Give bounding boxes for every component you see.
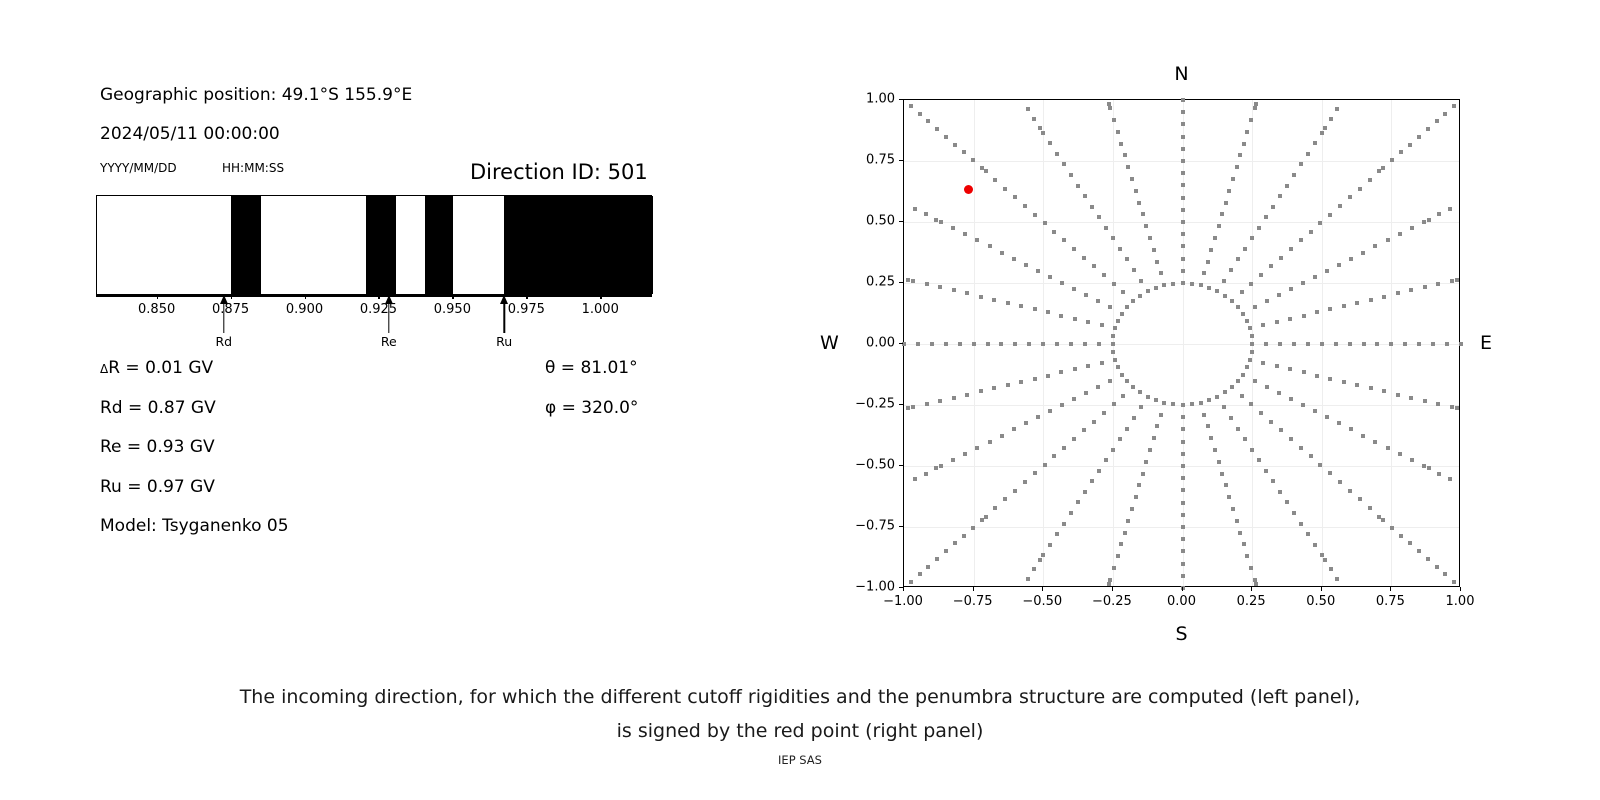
scatter-point: [1452, 104, 1456, 108]
scatter-point: [1253, 106, 1257, 110]
scatter-point: [1227, 189, 1231, 193]
y-axis-tick-label: 0.00: [841, 336, 895, 351]
scatter-point: [1121, 394, 1125, 398]
scatter-point: [1033, 471, 1037, 475]
scatter-point: [1368, 178, 1372, 182]
scatter-point: [1125, 427, 1129, 431]
scatter-point: [1171, 402, 1175, 406]
scatter-point: [1342, 304, 1346, 308]
scatter-point: [1417, 549, 1421, 553]
scatter-point: [909, 104, 913, 108]
scatter-point: [1181, 574, 1185, 578]
scatter-point: [1116, 554, 1120, 558]
scatter-point: [1097, 215, 1101, 219]
stat-left-2: Re = 0.93 GV: [100, 437, 215, 457]
scatter-point: [1100, 361, 1104, 365]
scatter-point: [1215, 289, 1219, 293]
scatter-point: [1000, 434, 1004, 438]
y-axis-tick-label: 1.00: [841, 92, 895, 107]
scatter-point: [1455, 406, 1459, 410]
scatter-point: [1013, 195, 1017, 199]
scatter-point: [1213, 236, 1217, 240]
stat-left-4: Model: Tsyganenko 05: [100, 516, 289, 536]
scatter-point: [1209, 436, 1213, 440]
scatter-point: [1155, 424, 1159, 428]
scatter-point: [1038, 558, 1042, 562]
scatter-point: [963, 452, 967, 456]
scatter-point: [1220, 472, 1224, 476]
scatter-point: [1120, 312, 1124, 316]
scatter-point: [953, 143, 957, 147]
scatter-point: [1181, 440, 1185, 444]
scatter-point: [1248, 326, 1252, 330]
scatter-point: [1126, 165, 1130, 169]
scatter-point: [1289, 397, 1293, 401]
y-axis-tick-label: 0.50: [841, 214, 895, 229]
scatter-point: [1207, 286, 1211, 290]
scatter-point: [1328, 307, 1332, 311]
scatter-point: [1231, 507, 1235, 511]
scatter-point: [952, 288, 956, 292]
x-axis-tick: [1182, 587, 1183, 591]
scatter-point: [1399, 534, 1403, 538]
rigidity-marker-re: Re: [369, 295, 409, 349]
scatter-point: [1112, 282, 1116, 286]
scatter-point: [979, 295, 983, 299]
scatter-point: [1082, 256, 1086, 260]
penumbra-axis-tick: [526, 295, 527, 299]
scatter-point: [1265, 385, 1269, 389]
direction-id-label: Direction ID: 501: [470, 160, 648, 184]
scatter-point: [1100, 323, 1104, 327]
scatter-point: [1215, 395, 1219, 399]
scatter-point: [1048, 409, 1052, 413]
scatter-point: [1131, 299, 1135, 303]
scatter-point: [1141, 472, 1145, 476]
scatter-point: [1329, 567, 1333, 571]
scatter-point: [1096, 385, 1100, 389]
scatter-point: [1328, 213, 1332, 217]
scatter-point: [1052, 454, 1056, 458]
scatter-point: [1048, 543, 1052, 547]
scatter-point: [1159, 271, 1163, 275]
scatter-point: [1249, 282, 1253, 286]
scatter-point: [1023, 480, 1027, 484]
scatter-point: [924, 212, 928, 216]
scatter-point: [1245, 319, 1249, 323]
scatter-point: [1422, 220, 1426, 224]
y-axis-tick: [899, 160, 903, 161]
scatter-point: [1306, 532, 1310, 536]
scatter-point: [1377, 169, 1381, 173]
scatter-point: [1026, 577, 1030, 581]
scatter-point: [906, 278, 910, 282]
scatter-point: [1222, 279, 1226, 283]
scatter-point: [913, 207, 917, 211]
scatter-point: [1006, 383, 1010, 387]
scatter-point: [1144, 460, 1148, 464]
scatter-point: [1396, 393, 1400, 397]
scatter-point: [1320, 131, 1324, 135]
scatter-point: [1318, 463, 1322, 467]
scatter-point: [1390, 158, 1394, 162]
scatter-point: [1250, 448, 1254, 452]
scatter-point: [980, 166, 984, 170]
scatter-point: [984, 515, 988, 519]
scatter-point: [1253, 578, 1257, 582]
scatter-point: [1206, 260, 1210, 264]
scatter-point: [1154, 398, 1158, 402]
scatter-point: [1236, 257, 1240, 261]
scatter-point: [1027, 342, 1031, 346]
scatter-point: [1152, 248, 1156, 252]
scatter-point: [1229, 268, 1233, 272]
scatter-point: [1254, 102, 1258, 106]
scatter-point: [909, 580, 913, 584]
scatter-point: [1119, 542, 1123, 546]
scatter-point: [1134, 495, 1138, 499]
scatter-point: [1236, 305, 1240, 309]
scatter-point: [1125, 305, 1129, 309]
x-axis-tick: [1390, 587, 1391, 591]
penumbra-bar-frame: [96, 195, 652, 295]
scatter-point: [1097, 342, 1101, 346]
scatter-point: [1123, 531, 1127, 535]
stat-right-1: φ = 320.0°: [545, 398, 638, 418]
scatter-point: [1349, 427, 1353, 431]
scatter-point: [913, 477, 917, 481]
scatter-point: [1436, 402, 1440, 406]
scatter-point: [1190, 402, 1194, 406]
stat-left-1: Rd = 0.87 GV: [100, 398, 216, 418]
scatter-point: [1111, 236, 1115, 240]
scatter-point: [1431, 342, 1435, 346]
scatter-point: [1459, 342, 1463, 346]
scatter-point: [1181, 501, 1185, 505]
scatter-point: [1108, 379, 1112, 383]
x-axis-tick-label: 1.00: [1446, 594, 1475, 609]
scatter-point: [1450, 279, 1454, 283]
scatter-point: [935, 557, 939, 561]
scatter-point: [1315, 310, 1319, 314]
penumbra-axis-tick: [600, 295, 601, 299]
scatter-point: [934, 218, 938, 222]
marker-label: Re: [369, 334, 409, 349]
scatter-point: [1410, 226, 1414, 230]
scatter-point: [1123, 153, 1127, 157]
scatter-point: [1206, 424, 1210, 428]
scatter-point: [1259, 411, 1263, 415]
marker-label: Ru: [484, 334, 524, 349]
scatter-point: [1386, 446, 1390, 450]
scatter-point: [1288, 367, 1292, 371]
scatter-point: [1318, 221, 1322, 225]
penumbra-axis-tick: [452, 295, 453, 299]
scatter-point: [1427, 218, 1431, 222]
scatter-point: [1024, 421, 1028, 425]
scatter-point: [1408, 143, 1412, 147]
scatter-point: [1138, 390, 1142, 394]
scatter-point: [1368, 506, 1372, 510]
scatter-point: [1116, 130, 1120, 134]
scatter-point: [925, 282, 929, 286]
scatter-point: [1062, 446, 1066, 450]
penumbra-bar-chart: [96, 195, 652, 295]
scatter-point: [1181, 452, 1185, 456]
highlighted-direction-point: [964, 185, 973, 194]
scatter-point: [1181, 525, 1185, 529]
x-axis-tick-label: −1.00: [883, 594, 923, 609]
scatter-point: [962, 150, 966, 154]
scatter-point: [1238, 153, 1242, 157]
scatter-point: [1409, 288, 1413, 292]
scatter-point: [952, 396, 956, 400]
scatter-point: [1259, 273, 1263, 277]
scatter-point: [930, 342, 934, 346]
x-axis-tick-label: 0.25: [1237, 594, 1266, 609]
scatter-point: [1435, 565, 1439, 569]
scatter-point: [980, 518, 984, 522]
scatter-point: [965, 393, 969, 397]
scatter-point: [1181, 159, 1185, 163]
scatter-point: [1269, 420, 1273, 424]
scatter-point: [1181, 464, 1185, 468]
scatter-point: [1313, 141, 1317, 145]
scatter-point: [1223, 390, 1227, 394]
scatter-point: [1132, 416, 1136, 420]
left-panel: Geographic position: 49.1°S 155.9°E 2024…: [0, 0, 760, 660]
scatter-point: [1102, 273, 1106, 277]
scatter-point: [1278, 194, 1282, 198]
scatter-point: [1320, 342, 1324, 346]
scatter-point: [1279, 428, 1283, 432]
scatter-point: [1086, 320, 1090, 324]
scatter-point: [1043, 221, 1047, 225]
scatter-point: [1236, 427, 1240, 431]
scatter-point: [1348, 195, 1352, 199]
y-axis-tick: [899, 465, 903, 466]
scatter-point: [1199, 401, 1203, 405]
scatter-point: [1162, 283, 1166, 287]
scatter-point: [1118, 437, 1122, 441]
scatter-point: [1139, 279, 1143, 283]
scatter-point: [1033, 213, 1037, 217]
scatter-point: [1369, 386, 1373, 390]
scatter-point: [1445, 342, 1449, 346]
scatter-point: [1437, 212, 1441, 216]
scatter-point: [1154, 286, 1158, 290]
scatter-point: [1137, 483, 1141, 487]
scatter-point: [1146, 395, 1150, 399]
scatter-point: [1277, 293, 1281, 297]
scatter-point: [1230, 385, 1234, 389]
scatter-point: [1086, 364, 1090, 368]
scatter-point: [992, 298, 996, 302]
scatter-point: [1309, 230, 1313, 234]
scatter-point: [1072, 437, 1076, 441]
scatter-point: [1230, 299, 1234, 303]
scatter-point: [1181, 244, 1185, 248]
scatter-point: [1113, 358, 1117, 362]
y-axis-tick-label: −1.00: [841, 580, 895, 595]
scatter-point: [1426, 557, 1430, 561]
scatter-point: [1181, 269, 1185, 273]
scatter-point: [1236, 379, 1240, 383]
scatter-point: [1422, 464, 1426, 468]
scatter-point: [1190, 282, 1194, 286]
scatter-point: [1362, 342, 1366, 346]
scatter-point: [1111, 342, 1115, 346]
scatter-point: [1224, 201, 1228, 205]
scatter-point: [1309, 454, 1313, 458]
scatter-point: [1213, 448, 1217, 452]
scatter-point: [1108, 578, 1112, 582]
scatter-point: [1292, 511, 1296, 515]
scatter-point: [1382, 389, 1386, 393]
y-axis-tick-label: −0.25: [841, 397, 895, 412]
scatter-point: [1062, 162, 1066, 166]
scatter-point: [1113, 326, 1117, 330]
stat-left-3: Ru = 0.97 GV: [100, 477, 215, 497]
scatter-point: [965, 291, 969, 295]
scatter-point: [1271, 479, 1275, 483]
scatter-point: [1059, 370, 1063, 374]
scatter-point: [1278, 490, 1282, 494]
scatter-point: [1181, 476, 1185, 480]
scatter-point: [972, 342, 976, 346]
datetime-text: 2024/05/11 00:00:00: [100, 124, 280, 144]
scatter-point: [1448, 477, 1452, 481]
time-format-hint: HH:MM:SS: [222, 161, 284, 175]
scatter-point: [1084, 391, 1088, 395]
scatter-point: [1249, 566, 1253, 570]
scatter-point: [1301, 281, 1305, 285]
rigidity-marker-ru: Ru: [484, 295, 524, 349]
scatter-point: [1003, 497, 1007, 501]
scatter-point: [1299, 238, 1303, 242]
scatter-point: [1306, 342, 1310, 346]
scatter-point: [1033, 377, 1037, 381]
scatter-point: [1019, 304, 1023, 308]
scatter-point: [1159, 413, 1163, 417]
scatter-point: [1083, 490, 1087, 494]
scatter-point: [1257, 458, 1261, 462]
scatter-point: [1036, 269, 1040, 273]
scatter-point: [935, 127, 939, 131]
scatter-point: [1342, 380, 1346, 384]
scatter-point: [1125, 379, 1129, 383]
scatter-point: [1199, 283, 1203, 287]
scatter-point: [1118, 247, 1122, 251]
date-format-hint: YYYY/MM/DD: [100, 161, 177, 175]
scatter-point: [1209, 248, 1213, 252]
scatter-point: [1038, 126, 1042, 130]
scatter-point: [1275, 320, 1279, 324]
penumbra-axis-tick: [157, 295, 158, 299]
scatter-point: [1245, 365, 1249, 369]
scatter-point: [1240, 290, 1244, 294]
x-axis-tick-label: 0.00: [1167, 594, 1196, 609]
compass-south: S: [1175, 623, 1187, 645]
scatter-point: [1313, 275, 1317, 279]
scatter-point: [1003, 187, 1007, 191]
scatter-point: [1261, 361, 1265, 365]
scatter-point: [1055, 152, 1059, 156]
scatter-point: [1269, 264, 1273, 268]
scatter-point: [1292, 173, 1296, 177]
scatter-point: [1328, 377, 1332, 381]
scatter-point: [1289, 437, 1293, 441]
scatter-point: [999, 342, 1003, 346]
scatter-point: [975, 238, 979, 242]
scatter-point: [1126, 519, 1130, 523]
x-axis-tick: [903, 587, 904, 591]
scatter-point: [939, 464, 943, 468]
scatter-point: [1181, 135, 1185, 139]
geographic-position-text: Geographic position: 49.1°S 155.9°E: [100, 85, 412, 105]
scatter-point: [1361, 251, 1365, 255]
scatter-point: [1355, 383, 1359, 387]
x-axis-tick-label: −0.75: [953, 594, 993, 609]
scatter-point: [1032, 567, 1036, 571]
scatter-point: [1060, 403, 1064, 407]
scatter-point: [1062, 522, 1066, 526]
scatter-point: [1181, 122, 1185, 126]
footer-text: IEP SAS: [0, 753, 1600, 767]
scatter-point: [1108, 305, 1112, 309]
scatter-point: [1046, 374, 1050, 378]
scatter-point: [1138, 294, 1142, 298]
scatter-point: [1389, 342, 1393, 346]
scatter-point: [1082, 428, 1086, 432]
scatter-point: [1275, 364, 1279, 368]
scatter-point: [1012, 427, 1016, 431]
scatter-point: [993, 178, 997, 182]
scatter-point: [1289, 247, 1293, 251]
scatter-point: [1254, 582, 1258, 586]
scatter-point: [1261, 323, 1265, 327]
caption-line-2: is signed by the red point (right panel): [0, 714, 1600, 748]
scatter-point: [1250, 350, 1254, 354]
scatter-point: [1181, 183, 1185, 187]
scatter-point: [1046, 310, 1050, 314]
scatter-point: [944, 135, 948, 139]
y-axis-tick: [899, 99, 903, 100]
scatter-point: [1334, 342, 1338, 346]
scatter-point: [1102, 411, 1106, 415]
scatter-point: [1250, 236, 1254, 240]
scatter-point: [986, 342, 990, 346]
scatter-point: [1181, 196, 1185, 200]
scatter-point: [951, 458, 955, 462]
scatter-point: [1073, 317, 1077, 321]
x-axis-tick-label: 0.75: [1376, 594, 1405, 609]
scatter-point: [1217, 224, 1221, 228]
scatter-point: [1134, 189, 1138, 193]
scatter-point: [1048, 275, 1052, 279]
scatter-point: [1055, 532, 1059, 536]
y-axis-tick-label: 0.25: [841, 275, 895, 290]
scatter-point: [1436, 282, 1440, 286]
scatter-point: [1059, 314, 1063, 318]
penumbra-axis-tick: [305, 295, 306, 299]
scatter-point: [1013, 489, 1017, 493]
scatter-point: [1148, 236, 1152, 240]
scatter-point: [1335, 577, 1339, 581]
scatter-point: [1181, 98, 1185, 102]
scatter-point: [1012, 257, 1016, 261]
scatter-point: [1152, 436, 1156, 440]
